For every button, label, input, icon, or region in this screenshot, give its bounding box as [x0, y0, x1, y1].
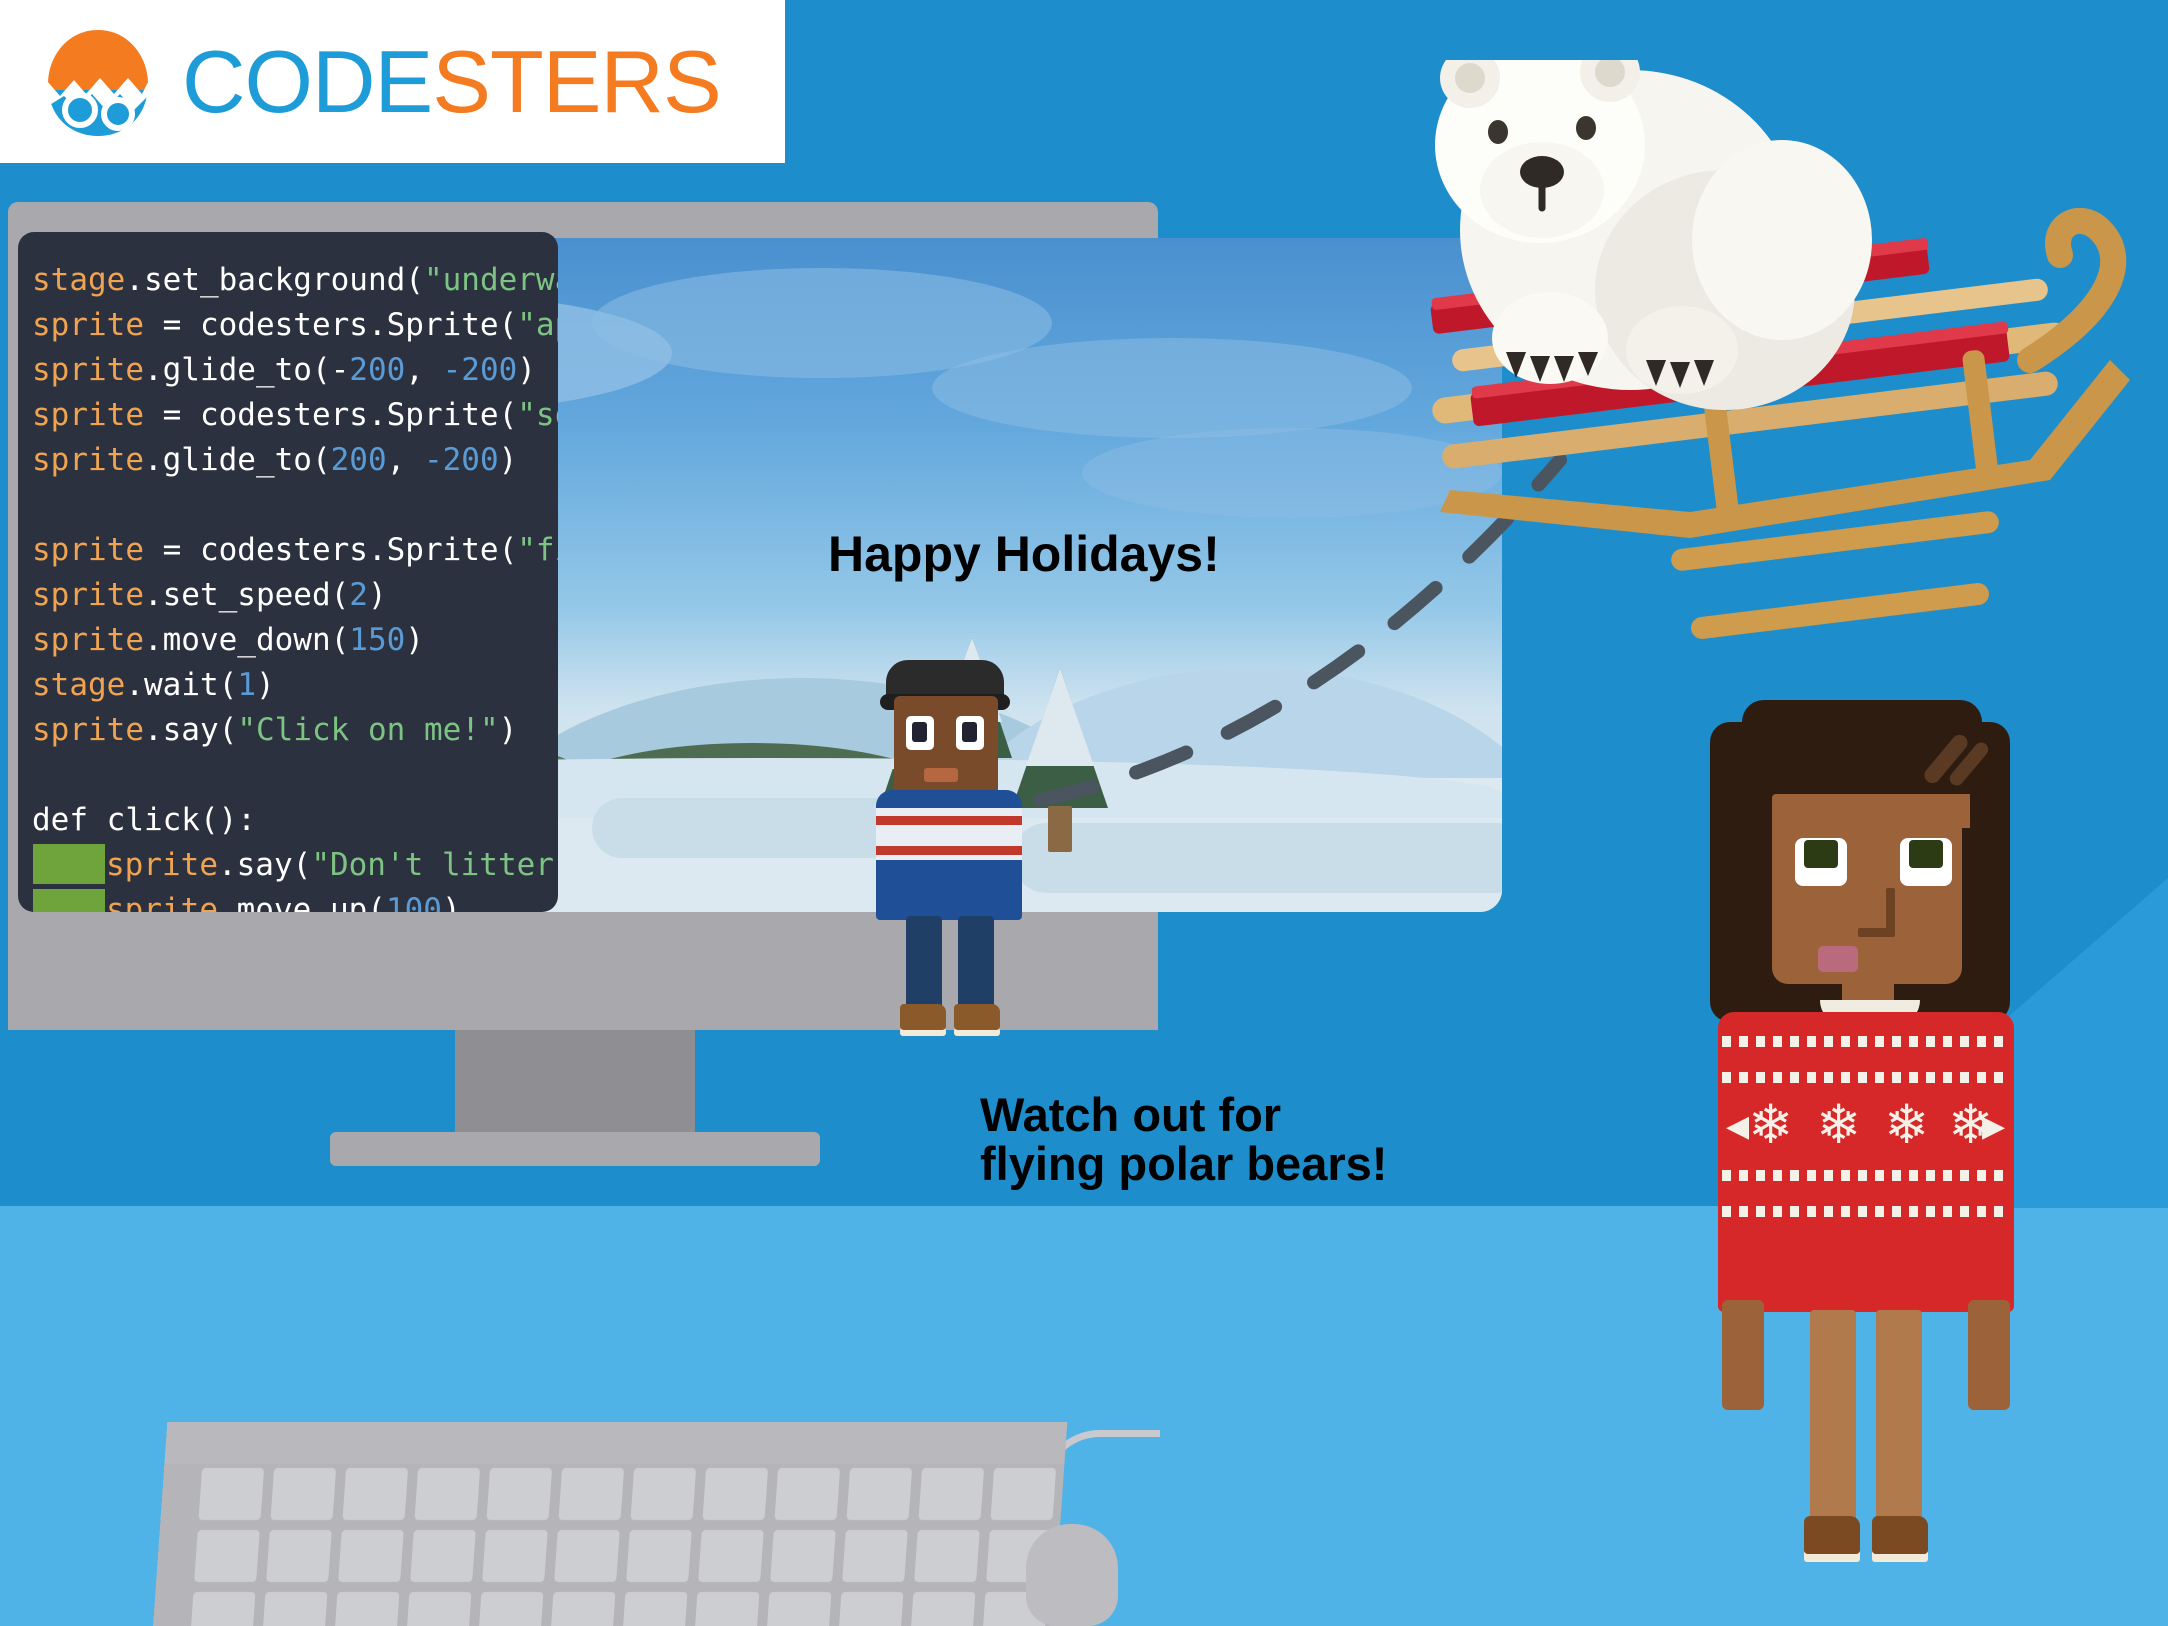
code-token: "Don't litter!" [311, 847, 558, 883]
sweater-dot [1790, 1170, 1799, 1181]
sweater-dot [1807, 1170, 1816, 1181]
boy-boot-left [900, 1004, 946, 1030]
girl-leg-right [1876, 1310, 1922, 1530]
girl-leg-left [1810, 1310, 1856, 1530]
sweater-dot [1824, 1170, 1833, 1181]
keyboard-key[interactable] [266, 1530, 332, 1582]
keyboard-key[interactable] [550, 1592, 616, 1626]
girl-sweater [1718, 1012, 2014, 1312]
keyboard-key[interactable] [558, 1468, 624, 1520]
sweater-dot [1858, 1036, 1867, 1047]
sweater-dot [1790, 1072, 1799, 1083]
sweater-dot [1960, 1170, 1969, 1181]
watch-out-text: Watch out for flying polar bears! [980, 1090, 1387, 1189]
sweater-dot [1977, 1036, 1986, 1047]
sweater-snowflake: ❄ [1884, 1098, 1929, 1152]
code-line[interactable]: stage.set_background("underwat [32, 258, 558, 303]
keyboard-key[interactable] [194, 1530, 260, 1582]
code-token: 150 [349, 622, 405, 658]
sweater-dot [1739, 1170, 1748, 1181]
keyboard-key[interactable] [478, 1592, 544, 1626]
keyboard-key[interactable] [694, 1592, 760, 1626]
sweater-dot [1824, 1072, 1833, 1083]
boy-pupil-right [962, 722, 977, 742]
keyboard[interactable] [153, 1422, 1068, 1626]
code-editor-panel[interactable]: stage.set_background("underwatsprite = c… [18, 232, 558, 912]
keyboard-key[interactable] [262, 1592, 328, 1626]
wordmark-code: CODE [182, 32, 432, 131]
sweater-dot [1858, 1072, 1867, 1083]
boy-leg-right [958, 916, 994, 1012]
code-token: 2 [349, 577, 368, 613]
polar-bear [1435, 60, 1872, 410]
keyboard-key[interactable] [554, 1530, 620, 1582]
code-token: sprite [32, 622, 144, 658]
code-lines[interactable]: stage.set_background("underwatsprite = c… [32, 258, 558, 912]
code-line[interactable]: sprite.say("Click on me!") [32, 708, 558, 753]
sweater-dot [1994, 1206, 2003, 1217]
keyboard-key[interactable] [338, 1530, 404, 1582]
code-token: sprite [106, 847, 218, 883]
sweater-dot-row [1718, 1206, 2014, 1220]
code-token: .set_background( [125, 262, 424, 298]
sweater-dot [1739, 1036, 1748, 1047]
code-line[interactable]: sprite.glide_to(200, -200) [32, 438, 558, 483]
sweater-dot [1773, 1072, 1782, 1083]
sweater-dot [1943, 1206, 1952, 1217]
sweater-dot [1875, 1170, 1884, 1181]
code-token: def click(): [32, 802, 256, 838]
keyboard-key[interactable] [910, 1592, 976, 1626]
code-token: , [387, 442, 424, 478]
boy-sweater-stripe [876, 846, 1022, 855]
code-token: 200 [349, 352, 405, 388]
sweater-dot [1807, 1036, 1816, 1047]
code-token: = codesters.Sprite( [144, 397, 517, 433]
codesters-logo-bar: CODESTERS [0, 0, 785, 163]
sweater-dot [1739, 1072, 1748, 1083]
sweater-dot [1824, 1206, 1833, 1217]
code-token: ) [442, 892, 461, 912]
sweater-dot [1943, 1036, 1952, 1047]
sweater-snowflake: ❄ [1748, 1098, 1793, 1152]
code-token: = codesters.Sprite( [144, 532, 517, 568]
sweater-dot [1790, 1036, 1799, 1047]
keyboard-key[interactable] [838, 1592, 904, 1626]
indent-block [32, 843, 106, 885]
sweater-dot [1756, 1170, 1765, 1181]
code-token: , [405, 352, 442, 388]
sweater-dot [1960, 1206, 1969, 1217]
code-line[interactable] [32, 753, 558, 798]
code-token: "app [517, 307, 558, 343]
sweater-dot [1943, 1170, 1952, 1181]
keyboard-key[interactable] [770, 1530, 836, 1582]
code-token: sprite [32, 352, 144, 388]
sweater-dot [1994, 1036, 2003, 1047]
sweater-dot [1739, 1206, 1748, 1217]
girl-pupil-right [1909, 840, 1943, 868]
keyboard-keys[interactable] [189, 1468, 1082, 1626]
code-token: ) [256, 667, 275, 703]
code-line[interactable]: sprite = codesters.Sprite("app [32, 303, 558, 348]
sweater-dot [1722, 1170, 1731, 1181]
keyboard-key[interactable] [914, 1530, 980, 1582]
sweater-dot [1858, 1206, 1867, 1217]
sweater-dot [1994, 1072, 2003, 1083]
code-line[interactable]: sprite.say("Don't litter!" [32, 843, 558, 888]
sweater-dot [1807, 1206, 1816, 1217]
sweater-dot [1841, 1170, 1850, 1181]
sweater-dot [1722, 1072, 1731, 1083]
girl-character: ❄ ❄ ❄ ❄ ◀ ▶ [1700, 700, 2030, 1580]
sweater-dot [1773, 1170, 1782, 1181]
girl-shoe-right [1872, 1516, 1928, 1554]
code-token: .move_down( [144, 622, 349, 658]
code-token: .move_up( [218, 892, 386, 912]
sweater-dot [1977, 1206, 1986, 1217]
sweater-dot [1892, 1170, 1901, 1181]
keyboard-row [198, 1468, 1082, 1520]
code-line[interactable] [32, 483, 558, 528]
keyboard-key[interactable] [842, 1530, 908, 1582]
indent-block [32, 888, 106, 912]
sweater-dot [1875, 1036, 1884, 1047]
code-token: 100 [386, 892, 442, 912]
code-token: sprite [32, 532, 144, 568]
code-token: .glide_to( [144, 442, 331, 478]
sweater-dot [1960, 1072, 1969, 1083]
sweater-dot [1909, 1072, 1918, 1083]
keyboard-key[interactable] [190, 1592, 256, 1626]
watch-out-line-2: flying polar bears! [980, 1139, 1387, 1188]
sweater-snowflake: ❄ [1816, 1098, 1861, 1152]
keyboard-key[interactable] [702, 1468, 768, 1520]
sweater-dot [1773, 1206, 1782, 1217]
code-token: .set_speed( [144, 577, 349, 613]
code-token: ) [405, 622, 424, 658]
sweater-dot [1909, 1170, 1918, 1181]
keyboard-key[interactable] [698, 1530, 764, 1582]
computer-mouse[interactable] [1026, 1524, 1118, 1626]
code-token: -200 [443, 352, 518, 388]
codesters-wordmark: CODESTERS [182, 38, 721, 126]
keyboard-key[interactable] [410, 1530, 476, 1582]
code-token: = codesters.Sprite( [144, 307, 517, 343]
girl-arm-left [1722, 1300, 1764, 1410]
sweater-dot [1977, 1170, 1986, 1181]
keyboard-key[interactable] [774, 1468, 840, 1520]
code-token: .say( [144, 712, 237, 748]
watch-out-line-1: Watch out for [980, 1090, 1387, 1139]
code-token: ) [499, 712, 518, 748]
monitor-stand-base [330, 1132, 820, 1166]
sweater-dot [1909, 1036, 1918, 1047]
code-line[interactable]: def click(): [32, 798, 558, 843]
keyboard-key[interactable] [198, 1468, 264, 1520]
code-token: 1 [237, 667, 256, 703]
girl-nose-base [1858, 928, 1895, 937]
sweater-dot [1841, 1036, 1850, 1047]
boy-sweater-stripe [876, 816, 1022, 825]
keyboard-key[interactable] [766, 1592, 832, 1626]
code-line[interactable]: sprite = codesters.Sprite("fis [32, 528, 558, 573]
code-token: sprite [32, 307, 144, 343]
sweater-dot-row [1718, 1170, 2014, 1184]
keyboard-key[interactable] [918, 1468, 984, 1520]
code-token: -200 [424, 442, 499, 478]
boy-legs [902, 916, 998, 1020]
code-token: sprite [32, 397, 144, 433]
sweater-dot [1960, 1036, 1969, 1047]
code-token: sprite [32, 577, 144, 613]
sweater-dot [1756, 1036, 1765, 1047]
girl-legs [1810, 1310, 1930, 1570]
wordmark-sters: STERS [432, 32, 720, 131]
code-token: .glide_to(- [144, 352, 349, 388]
code-token: "underwat [424, 262, 558, 298]
keyboard-key[interactable] [270, 1468, 336, 1520]
sweater-dot [1892, 1206, 1901, 1217]
sweater-dot [1977, 1072, 1986, 1083]
sweater-dot-row [1718, 1072, 2014, 1086]
sweater-dot [1926, 1170, 1935, 1181]
sweater-dot [1875, 1072, 1884, 1083]
code-token: 200 [331, 442, 387, 478]
keyboard-key[interactable] [414, 1468, 480, 1520]
keyboard-key[interactable] [846, 1468, 912, 1520]
sweater-chevron-right: ▶ [1982, 1112, 2005, 1142]
sweater-dot [1926, 1036, 1935, 1047]
sweater-dot [1773, 1036, 1782, 1047]
boy-pupil-left [912, 722, 927, 742]
girl-shoe-left [1804, 1516, 1860, 1554]
sweater-dot-row [1718, 1036, 2014, 1050]
sweater-dot [1909, 1206, 1918, 1217]
keyboard-key[interactable] [990, 1468, 1056, 1520]
sweater-dot [1790, 1206, 1799, 1217]
keyboard-key[interactable] [482, 1530, 548, 1582]
code-line[interactable]: sprite.glide_to(-200, -200) [32, 348, 558, 393]
girl-face [1772, 794, 1962, 984]
code-line[interactable]: sprite = codesters.Sprite("soc [32, 393, 558, 438]
codesters-egg-logo [34, 26, 162, 138]
sweater-dot [1892, 1036, 1901, 1047]
keyboard-row [190, 1592, 1074, 1626]
code-line[interactable]: sprite.set_speed(2) [32, 573, 558, 618]
scene-root: ❄ ❄ ❄ ❄ ◀ ▶ Happy Holidays! Watch out fo… [0, 0, 2168, 1626]
code-token: sprite [32, 442, 144, 478]
sweater-dot [1756, 1072, 1765, 1083]
girl-pupil-left [1804, 840, 1838, 868]
sweater-dot [1722, 1036, 1731, 1047]
boy-boot-right [954, 1004, 1000, 1030]
monitor-stand-neck [455, 1020, 695, 1140]
sweater-dot [1943, 1072, 1952, 1083]
sweater-dot [1722, 1206, 1731, 1217]
code-token: sprite [106, 892, 218, 912]
sweater-chevron-left: ◀ [1726, 1112, 1749, 1142]
code-token: sprite [32, 712, 144, 748]
sweater-dot [1875, 1206, 1884, 1217]
code-token: stage [32, 262, 125, 298]
keyboard-top-edge [164, 1422, 1067, 1464]
sweater-dot [1807, 1072, 1816, 1083]
polar-bear-on-sled [1330, 60, 2160, 710]
code-token: ) [499, 442, 518, 478]
keyboard-key[interactable] [626, 1530, 692, 1582]
keyboard-key[interactable] [406, 1592, 472, 1626]
sweater-dot [1841, 1206, 1850, 1217]
keyboard-key[interactable] [486, 1468, 552, 1520]
code-line[interactable]: sprite.move_down(150) [32, 618, 558, 663]
keyboard-key[interactable] [622, 1592, 688, 1626]
keyboard-key[interactable] [342, 1468, 408, 1520]
code-token: .wait( [125, 667, 237, 703]
boy-leg-left [906, 916, 942, 1012]
sweater-dot [1858, 1170, 1867, 1181]
sweater-dot [1926, 1206, 1935, 1217]
sweater-dot [1892, 1072, 1901, 1083]
code-line[interactable]: sprite.move_up(100) [32, 888, 558, 912]
sweater-dot [1756, 1206, 1765, 1217]
keyboard-key[interactable] [334, 1592, 400, 1626]
sweater-dot [1926, 1072, 1935, 1083]
keyboard-key[interactable] [630, 1468, 696, 1520]
code-line[interactable]: stage.wait(1) [32, 663, 558, 708]
code-token: "soc [517, 397, 558, 433]
keyboard-row [194, 1530, 1078, 1582]
sweater-dot [1994, 1170, 2003, 1181]
code-token: .say( [218, 847, 311, 883]
boy-mouth [924, 768, 958, 782]
sweater-dot [1824, 1036, 1833, 1047]
girl-mouth [1818, 946, 1858, 972]
code-token: stage [32, 667, 125, 703]
code-token: ) [368, 577, 387, 613]
code-token: "fis [517, 532, 558, 568]
sweater-dot [1841, 1072, 1850, 1083]
code-token: "Click on me!" [237, 712, 498, 748]
girl-arm-right [1968, 1300, 2010, 1410]
code-token: ) [517, 352, 536, 388]
